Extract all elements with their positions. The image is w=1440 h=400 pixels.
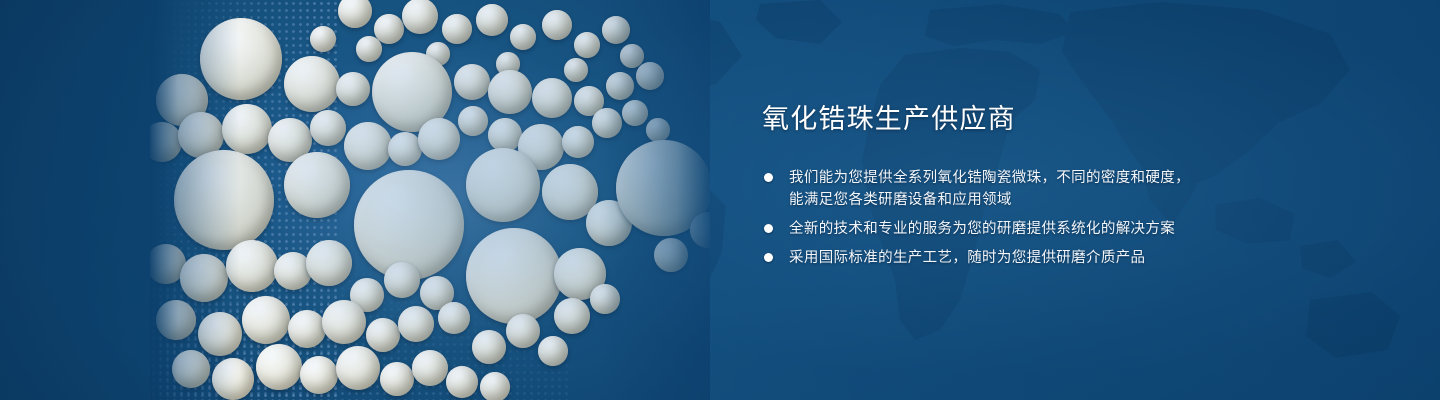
banner-feature-list: 我们能为您提供全系列氧化锆陶瓷微珠，不同的密度和硬度， 能满足您各类研磨设备和应… (762, 167, 1232, 269)
bullet-text-line1: 采用国际标准的生产工艺，随时为您提供研磨介质产品 (789, 250, 1145, 266)
filled-circle-bullet-icon (764, 224, 773, 233)
banner-text-column: 氧化锆珠生产供应商 我们能为您提供全系列氧化锆陶瓷微珠，不同的密度和硬度， 能满… (762, 104, 1232, 269)
filled-circle-bullet-icon (764, 173, 773, 182)
bullet-text-line2: 能满足您各类研磨设备和应用领域 (789, 189, 1232, 211)
bullet-text-line1: 我们能为您提供全系列氧化锆陶瓷微珠，不同的密度和硬度， (789, 170, 1190, 186)
banner-headline: 氧化锆珠生产供应商 (762, 104, 1232, 136)
list-item: 全新的技术和专业的服务为您的研磨提供系统化的解决方案 (762, 218, 1232, 240)
hero-banner: 氧化锆珠生产供应商 我们能为您提供全系列氧化锆陶瓷微珠，不同的密度和硬度， 能满… (0, 0, 1440, 400)
list-item: 采用国际标准的生产工艺，随时为您提供研磨介质产品 (762, 247, 1232, 269)
list-item: 我们能为您提供全系列氧化锆陶瓷微珠，不同的密度和硬度， 能满足您各类研磨设备和应… (762, 167, 1232, 211)
filled-circle-bullet-icon (764, 253, 773, 262)
bullet-text-line1: 全新的技术和专业的服务为您的研磨提供系统化的解决方案 (789, 221, 1175, 237)
